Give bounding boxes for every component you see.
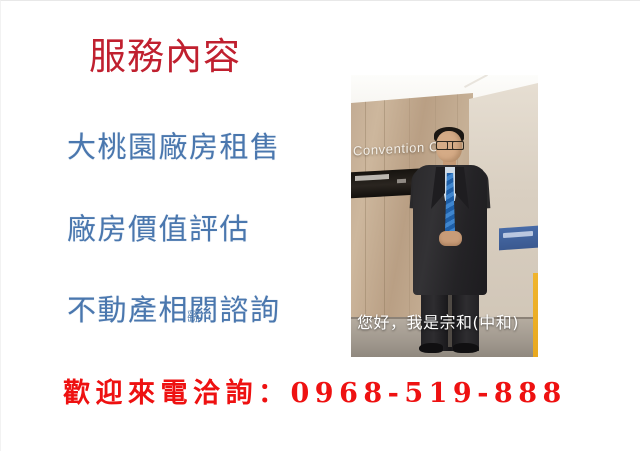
photo-rail-highlight-2	[397, 179, 406, 184]
person-hands	[439, 231, 462, 246]
glasses-icon	[436, 141, 464, 150]
person-shoe-left	[419, 343, 443, 353]
photo-yellow-edge-strip	[533, 273, 538, 357]
service-item-3: 不動產相關諮詢	[67, 293, 281, 328]
portrait-photo: Convention Ce 您好，我是宗和(中和)	[351, 75, 538, 357]
photo-blue-plaque	[499, 226, 538, 251]
photo-caption: 您好，我是宗和(中和)	[357, 309, 519, 333]
contact-phone-line: 歡迎來電洽詢：0968-519-888	[63, 371, 567, 410]
page-title: 服務內容	[89, 35, 241, 79]
slide-canvas: 服務內容 大桃園廠房租售 廠房價值評估 不動產相關諮詢 繇 歡迎來電洽詢：096…	[0, 0, 640, 451]
service-item-1: 大桃園廠房租售	[67, 130, 281, 165]
person-shoe-right	[453, 343, 479, 353]
service-item-2: 廠房價值評估	[67, 212, 250, 247]
